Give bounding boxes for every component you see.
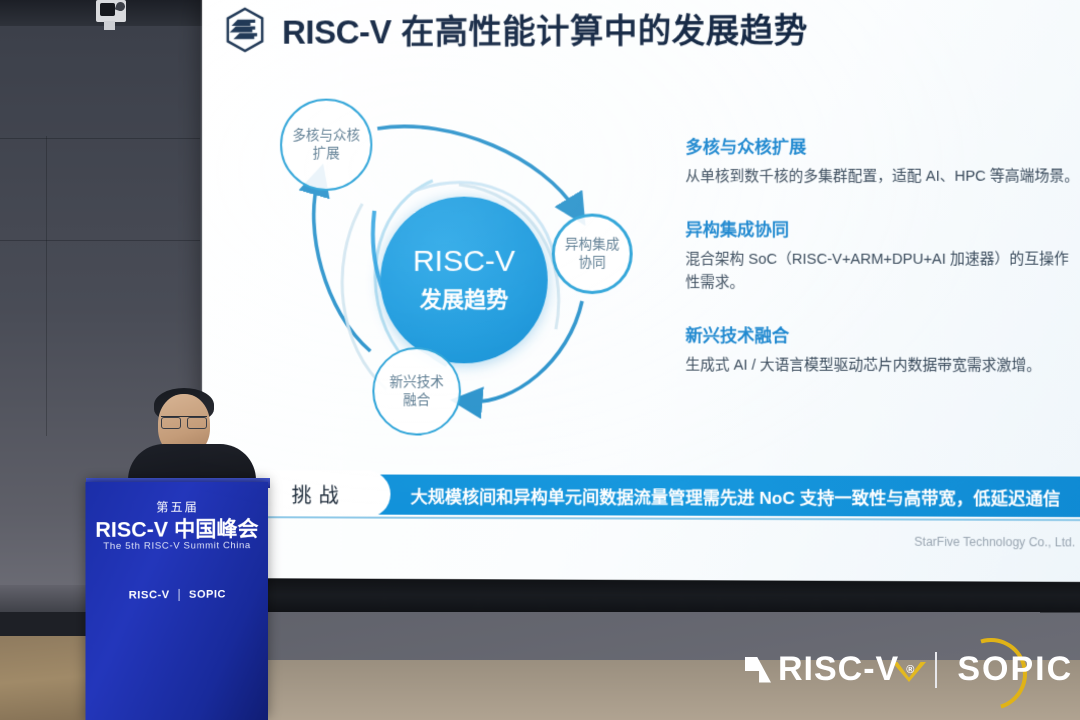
riscv-mark-icon: [745, 657, 771, 683]
podium-line-3: The 5th RISC-V Summit China: [86, 540, 268, 552]
presentation-slide: RISC-V 在高性能计算中的发展趋势: [202, 0, 1080, 582]
wall-seam-vertical: [46, 136, 47, 436]
node-label-line1: 异构集成: [565, 235, 620, 253]
starfive-s-logo-icon: [224, 7, 266, 53]
point-title: 异构集成协同: [685, 216, 1080, 242]
slide-point: 多核与众核扩展 从单核到数千核的多集群配置，适配 AI、HPC 等高端场景。: [685, 132, 1080, 189]
slide-point: 异构集成协同 混合架构 SoC（RISC-V+ARM+DPU+AI 加速器）的互…: [685, 216, 1080, 295]
center-node-title: RISC-V: [413, 246, 515, 278]
wall-brand-logos: RISC-V ® SOPIC: [745, 650, 1073, 689]
wall-riscv-text: RISC-V: [778, 650, 899, 689]
node-label-line2: 协同: [579, 254, 606, 272]
podium-lectern: 第五届 RISC-V 中国峰会 The 5th RISC-V Summit Ch…: [86, 482, 268, 720]
glasses-icon: [161, 416, 207, 427]
point-title: 多核与众核扩展: [685, 132, 1080, 158]
slide-title: RISC-V 在高性能计算中的发展趋势: [282, 3, 808, 53]
node-label-line1: 多核与众核: [292, 126, 360, 144]
podium-sopic-logo: SOPIC: [189, 588, 226, 600]
wall-logo-divider: [935, 652, 937, 688]
wall-riscv-logo: RISC-V ®: [745, 650, 915, 689]
point-body: 混合架构 SoC（RISC-V+ARM+DPU+AI 加速器）的互操作性需求。: [685, 249, 1080, 295]
node-label-line2: 融合: [403, 391, 430, 409]
slide-points-list: 多核与众核扩展 从单核到数千核的多集群配置，适配 AI、HPC 等高端场景。 异…: [685, 132, 1080, 406]
diagram-node-heterogeneous: 异构集成 协同: [552, 214, 633, 295]
diagram-node-multicore: 多核与众核 扩展: [280, 99, 372, 191]
podium-logo-row: RISC-V SOPIC: [86, 588, 268, 602]
slide-footer: StarFive Technology Co., Ltd.: [914, 535, 1075, 550]
challenge-text: 大规模核间和异构单元间数据流量管理需先进 NoC 支持一致性与高带宽，低延迟通信: [411, 482, 1061, 509]
camera-lens-icon: [100, 3, 115, 16]
projection-screen: RISC-V 在高性能计算中的发展趋势: [202, 0, 1080, 582]
slide-title-cn: 在高性能计算中的发展趋势: [391, 11, 808, 50]
node-label-line1: 新兴技术: [389, 373, 443, 391]
slide-title-latin: RISC-V: [282, 13, 391, 50]
challenge-banner: 挑战 大规模核间和异构单元间数据流量管理需先进 NoC 支持一致性与高带宽，低延…: [242, 474, 1080, 517]
podium-logo-divider: [179, 589, 180, 601]
camera-arm-icon: [115, 1, 127, 13]
registered-trademark-icon: ®: [906, 664, 915, 676]
slide-point: 新兴技术融合 生成式 AI / 大语言模型驱动芯片内数据带宽需求激增。: [685, 322, 1080, 378]
podium-riscv-logo: RISC-V: [129, 589, 170, 602]
slide-header: RISC-V 在高性能计算中的发展趋势: [224, 3, 808, 54]
conference-stage-photo: RISC-V 在高性能计算中的发展趋势: [0, 0, 1080, 720]
ceiling-camera-icon: [96, 0, 126, 22]
point-title: 新兴技术融合: [685, 322, 1080, 348]
point-body: 从单核到数千核的多集群配置，适配 AI、HPC 等高端场景。: [685, 165, 1080, 188]
ceiling-mount: [104, 21, 115, 30]
node-label-line2: 扩展: [313, 145, 340, 163]
point-body: 生成式 AI / 大语言模型驱动芯片内数据带宽需求激增。: [685, 355, 1080, 378]
challenge-underline: [242, 516, 1080, 521]
diagram-node-emerging-tech: 新兴技术 融合: [372, 347, 461, 435]
wall-seam: [0, 240, 200, 241]
diagram-center-node: RISC-V 发展趋势: [380, 197, 547, 364]
cycle-diagram: RISC-V 发展趋势 多核与众核 扩展 异构集成 协同 新兴技术 融合: [262, 88, 665, 461]
center-node-subtitle: 发展趋势: [420, 282, 509, 314]
wall-sopic-logo: SOPIC: [957, 650, 1073, 689]
wall-seam: [0, 138, 200, 139]
